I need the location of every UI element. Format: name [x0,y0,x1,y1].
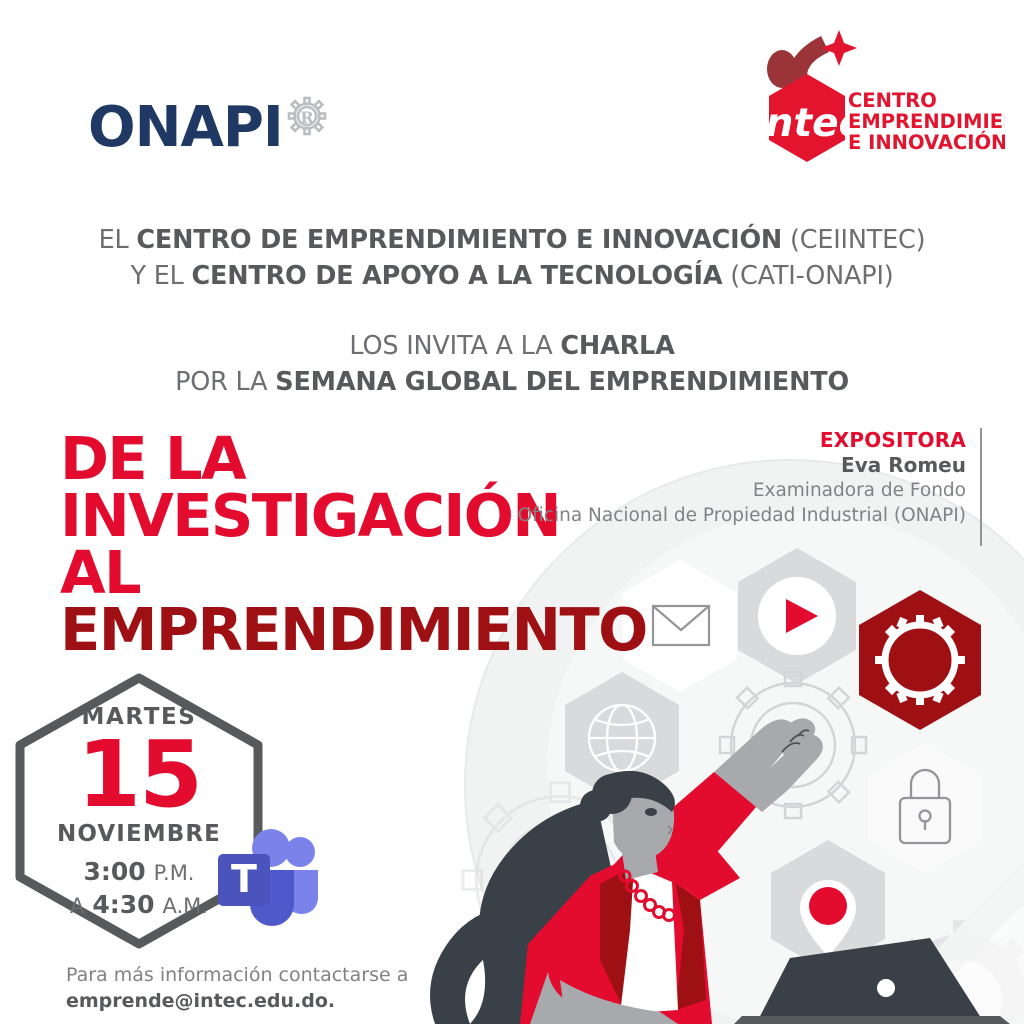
date-month: NOVIEMBRE [57,820,221,848]
flyer-canvas: ONAPI R [0,0,1024,1024]
speaker-role: EXPOSITORA [518,428,966,452]
speaker-block: EXPOSITORA Eva Romeu Examinadora de Fond… [518,428,982,546]
charla-line-1: LOS INVITA A LA CHARLA [0,328,1024,364]
time-to-word: A [70,894,84,918]
charla-line1-pre: LOS INVITA A LA [349,331,560,361]
onapi-logo: ONAPI R [88,100,329,156]
charla-line1-bold: CHARLA [560,331,674,361]
end-time: 4:30 [92,890,154,919]
invite-line1-post: (CEIINTEC) [782,225,925,255]
speaker-organization: Oficina Nacional de Propiedad Industrial… [518,503,966,528]
speaker-position: Examinadora de Fondo [518,478,966,503]
microsoft-teams-icon[interactable]: T [216,826,322,930]
invite-line2-pre: Y EL [130,261,191,291]
charla-line-2: POR LA SEMANA GLOBAL DEL EMPRENDIMIENTO [0,364,1024,400]
charla-line2-bold: SEMANA GLOBAL DEL EMPRENDIMIENTO [275,367,849,397]
start-time: 3:00 [83,857,145,886]
intec-line-1: CENTRO [848,89,937,112]
date-day-number: 15 [77,732,201,818]
star-icon [821,30,857,66]
invite-line2-post: (CATI-ONAPI) [722,261,893,291]
invitation-text: EL CENTRO DE EMPRENDIMIENTO E INNOVACIÓN… [0,222,1024,294]
intec-line-2: EMPRENDIMIENTO [848,110,1005,133]
invite-line2-bold: CENTRO DE APOYO A LA TECNOLOGÍA [192,261,723,291]
invitation-line-1: EL CENTRO DE EMPRENDIMIENTO E INNOVACIÓN… [0,222,1024,258]
svg-text:R: R [300,108,314,127]
title-line-4: EMPRENDIMIENTO [60,601,647,658]
end-meridiem: A.M. [163,894,208,918]
onapi-wordmark: ONAPI [88,100,283,156]
invitation-line-2: Y EL CENTRO DE APOYO A LA TECNOLOGÍA (CA… [0,258,1024,294]
intec-hexagon-word: intec [752,101,861,146]
speaker-name: Eva Romeu [518,452,966,478]
footer-contact: Para más información contactarse a empre… [66,962,408,1014]
gear-icon [875,615,965,705]
start-meridiem: P.M. [154,861,195,885]
title-line-3: AL [60,544,647,601]
teams-letter: T [231,857,257,901]
intec-line-3: E INNOVACIÓN [848,130,1005,154]
charla-line2-pre: POR LA [175,367,275,397]
date-time-range: 3:00 P.M. A 4:30 A.M. [70,856,208,922]
intec-logo: intec CENTRO EMPRENDIMIENTO E INNOVACIÓN [735,26,1005,191]
footer-text: Para más información contactarse a [66,962,408,988]
invite-line1-pre: EL [99,225,137,255]
end-time-row: A 4:30 A.M. [70,889,208,922]
gear-registered-icon: R [285,94,329,138]
invite-line1-bold: CENTRO DE EMPRENDIMIENTO E INNOVACIÓN [136,225,782,255]
footer-email[interactable]: emprende@intec.edu.do. [66,988,408,1014]
start-time-row: 3:00 P.M. [70,856,208,889]
charla-text: LOS INVITA A LA CHARLA POR LA SEMANA GLO… [0,328,1024,400]
